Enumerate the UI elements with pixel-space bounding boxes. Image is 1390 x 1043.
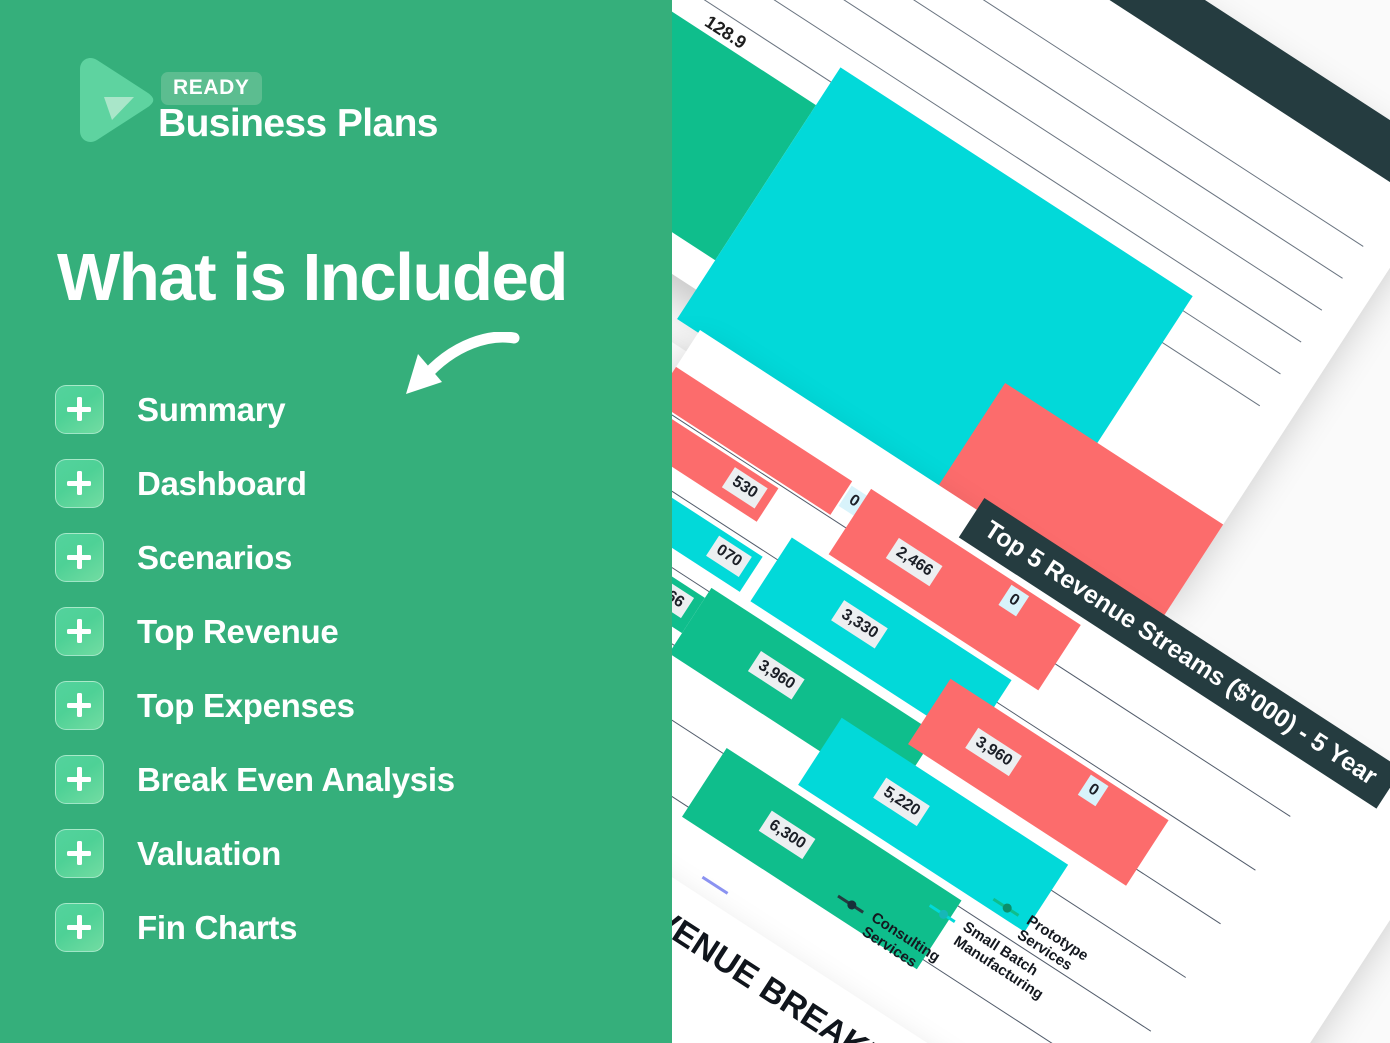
plus-icon[interactable]	[55, 385, 104, 434]
plus-icon[interactable]	[55, 459, 104, 508]
feature-item-break-even-analysis[interactable]: Break Even Analysis	[55, 755, 655, 804]
brand-name: Business Plans	[158, 104, 438, 143]
slide-canvas: ame of Contents 128.9 2028 2029 2030 649	[0, 0, 1390, 1043]
feature-label: Fin Charts	[137, 911, 297, 944]
page-title: What is Included	[57, 244, 567, 311]
feature-item-top-revenue[interactable]: Top Revenue	[55, 607, 655, 656]
feature-label: Break Even Analysis	[137, 763, 455, 796]
feature-item-scenarios[interactable]: Scenarios	[55, 533, 655, 582]
feature-label: Scenarios	[137, 541, 292, 574]
plus-icon[interactable]	[55, 681, 104, 730]
plus-icon[interactable]	[55, 755, 104, 804]
feature-label: Top Revenue	[137, 615, 338, 648]
feature-label: Dashboard	[137, 467, 307, 500]
features-list: Summary Dashboard Scenarios Top Revenue …	[55, 385, 655, 977]
ready-badge-label: READY	[173, 76, 250, 99]
feature-item-valuation[interactable]: Valuation	[55, 829, 655, 878]
play-triangle-icon	[72, 57, 156, 143]
feature-item-fin-charts[interactable]: Fin Charts	[55, 903, 655, 952]
feature-label: Valuation	[137, 837, 281, 870]
left-green-panel: READY Business Plans What is Included Su…	[0, 0, 672, 1043]
legend-marker-other-revenue-a	[702, 876, 729, 895]
feature-item-top-expenses[interactable]: Top Expenses	[55, 681, 655, 730]
feature-label: Top Expenses	[137, 689, 355, 722]
plus-icon[interactable]	[55, 607, 104, 656]
feature-item-summary[interactable]: Summary	[55, 385, 655, 434]
ready-badge: READY	[161, 72, 262, 105]
feature-label: Summary	[137, 393, 285, 426]
plus-icon[interactable]	[55, 533, 104, 582]
plus-icon[interactable]	[55, 829, 104, 878]
feature-item-dashboard[interactable]: Dashboard	[55, 459, 655, 508]
plus-icon[interactable]	[55, 903, 104, 952]
